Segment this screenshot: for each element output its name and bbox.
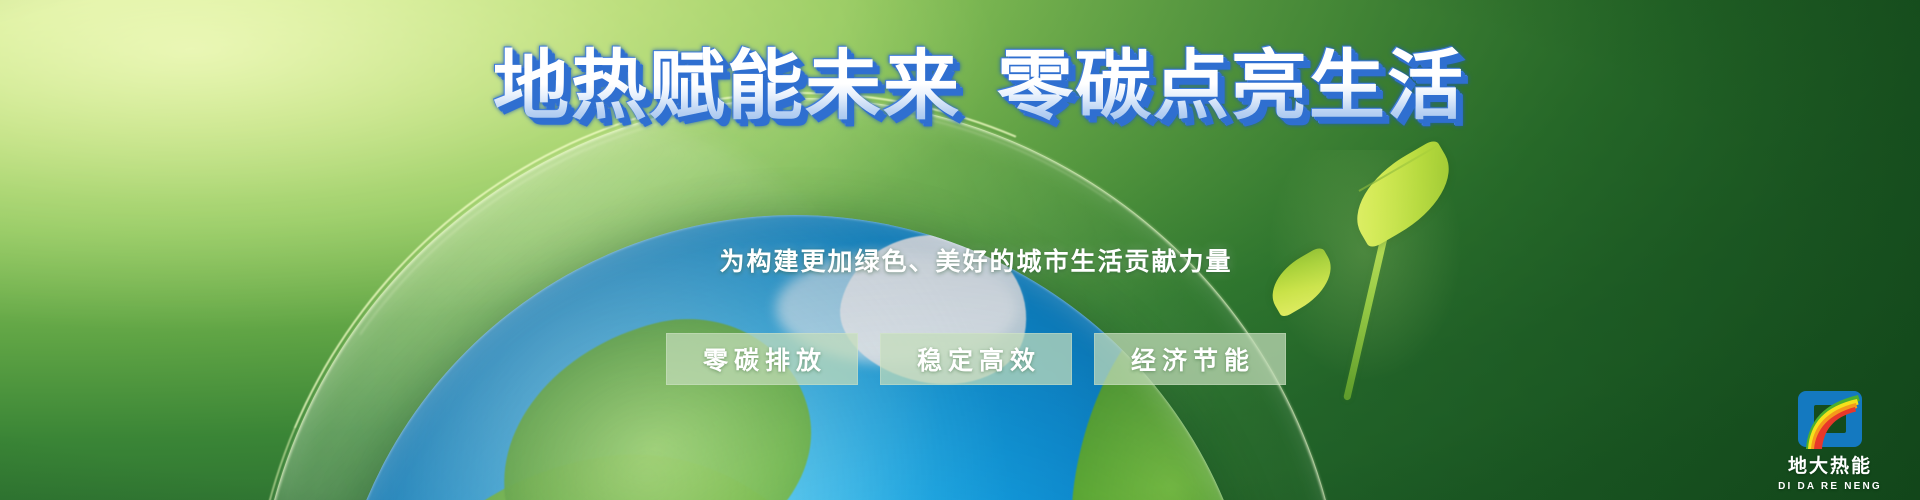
feature-tag-stable-efficient[interactable]: 稳定高效	[880, 333, 1072, 385]
feature-tag-zero-carbon[interactable]: 零碳排放	[666, 333, 858, 385]
banner-headline: 地热赋能未来零碳点亮生活	[0, 46, 1920, 128]
feature-tag-list: 零碳排放 稳定高效 经济节能	[0, 333, 1920, 385]
feature-tag-economical-saving[interactable]: 经济节能	[1094, 333, 1286, 385]
company-logo[interactable]: 地大热能 DI DA RE NENG	[1766, 387, 1894, 492]
logo-mark-icon	[1794, 387, 1866, 453]
headline-phrase-2: 零碳点亮生活	[997, 44, 1465, 129]
hero-banner: 地热赋能未来零碳点亮生活 为构建更加绿色、美好的城市生活贡献力量 零碳排放 稳定…	[0, 0, 1920, 500]
banner-subtitle: 为构建更加绿色、美好的城市生活贡献力量	[0, 242, 1920, 278]
headline-phrase-1: 地热赋能未来	[493, 44, 961, 129]
logo-name-cn: 地大热能	[1766, 457, 1894, 478]
logo-name-en: DI DA RE NENG	[1766, 481, 1894, 492]
banner-content: 地热赋能未来零碳点亮生活 为构建更加绿色、美好的城市生活贡献力量 零碳排放 稳定…	[0, 0, 1920, 500]
